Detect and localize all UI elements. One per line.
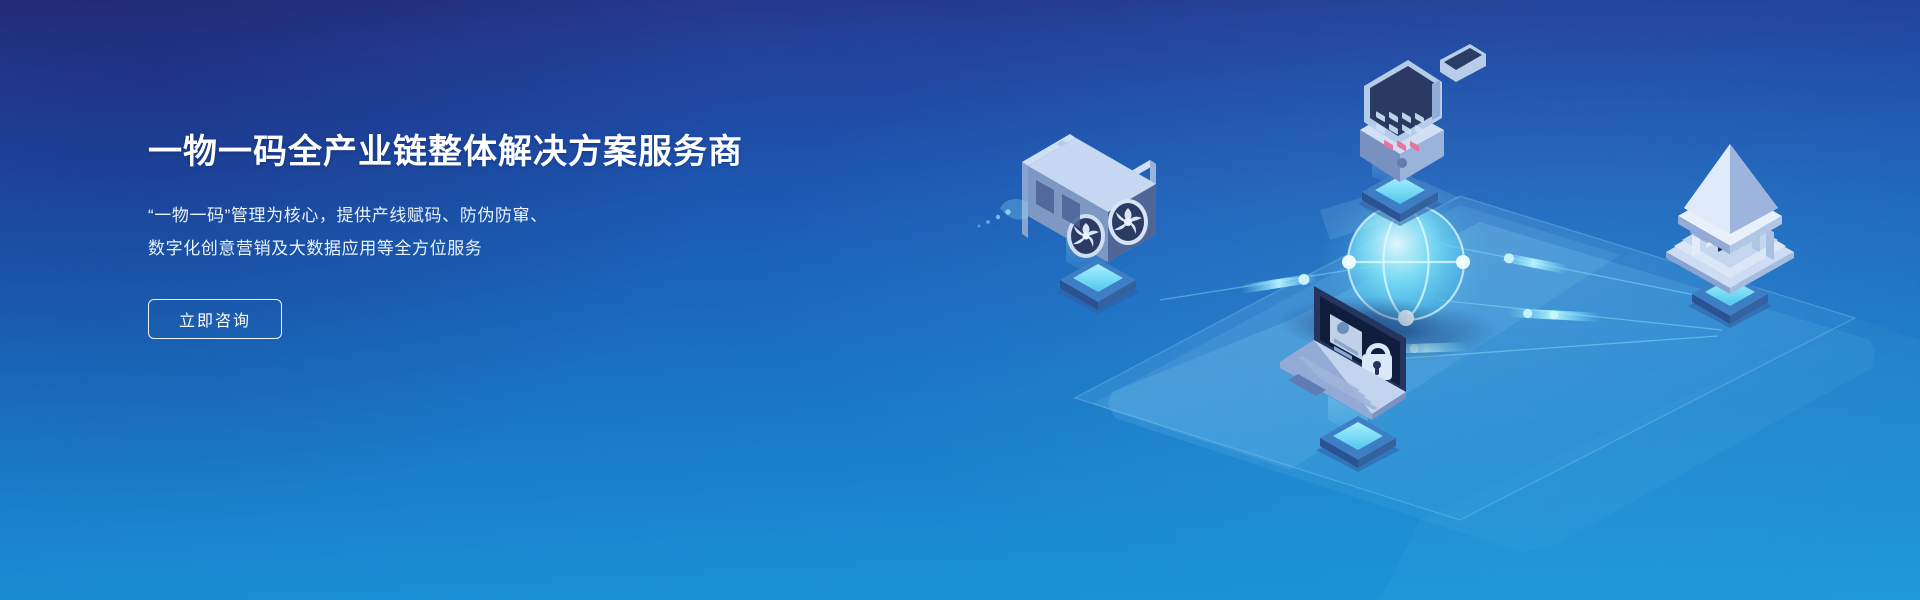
hero-subcopy: “一物一码”管理为核心，提供产线赋码、防伪防窜、 数字化创意营销及大数据应用等全… [148, 199, 848, 265]
hero-illustration [860, 0, 1920, 600]
pos-terminal-icon [1360, 44, 1486, 182]
server-rack-node [977, 134, 1156, 314]
subcopy-line-2: 数字化创意营销及大数据应用等全方位服务 [148, 232, 848, 265]
subcopy-line-1: “一物一码”管理为核心，提供产线赋码、防伪防窜、 [148, 199, 848, 232]
page-title: 一物一码全产业链整体解决方案服务商 [148, 132, 848, 173]
hero-copy: 一物一码全产业链整体解决方案服务商 “一物一码”管理为核心，提供产线赋码、防伪防… [148, 132, 848, 339]
airflow-particles [977, 199, 1028, 228]
pedestal-server [1056, 258, 1140, 314]
consult-now-button[interactable]: 立即咨询 [148, 299, 282, 339]
hero-banner: 一物一码全产业链整体解决方案服务商 “一物一码”管理为核心，提供产线赋码、防伪防… [0, 0, 1920, 600]
